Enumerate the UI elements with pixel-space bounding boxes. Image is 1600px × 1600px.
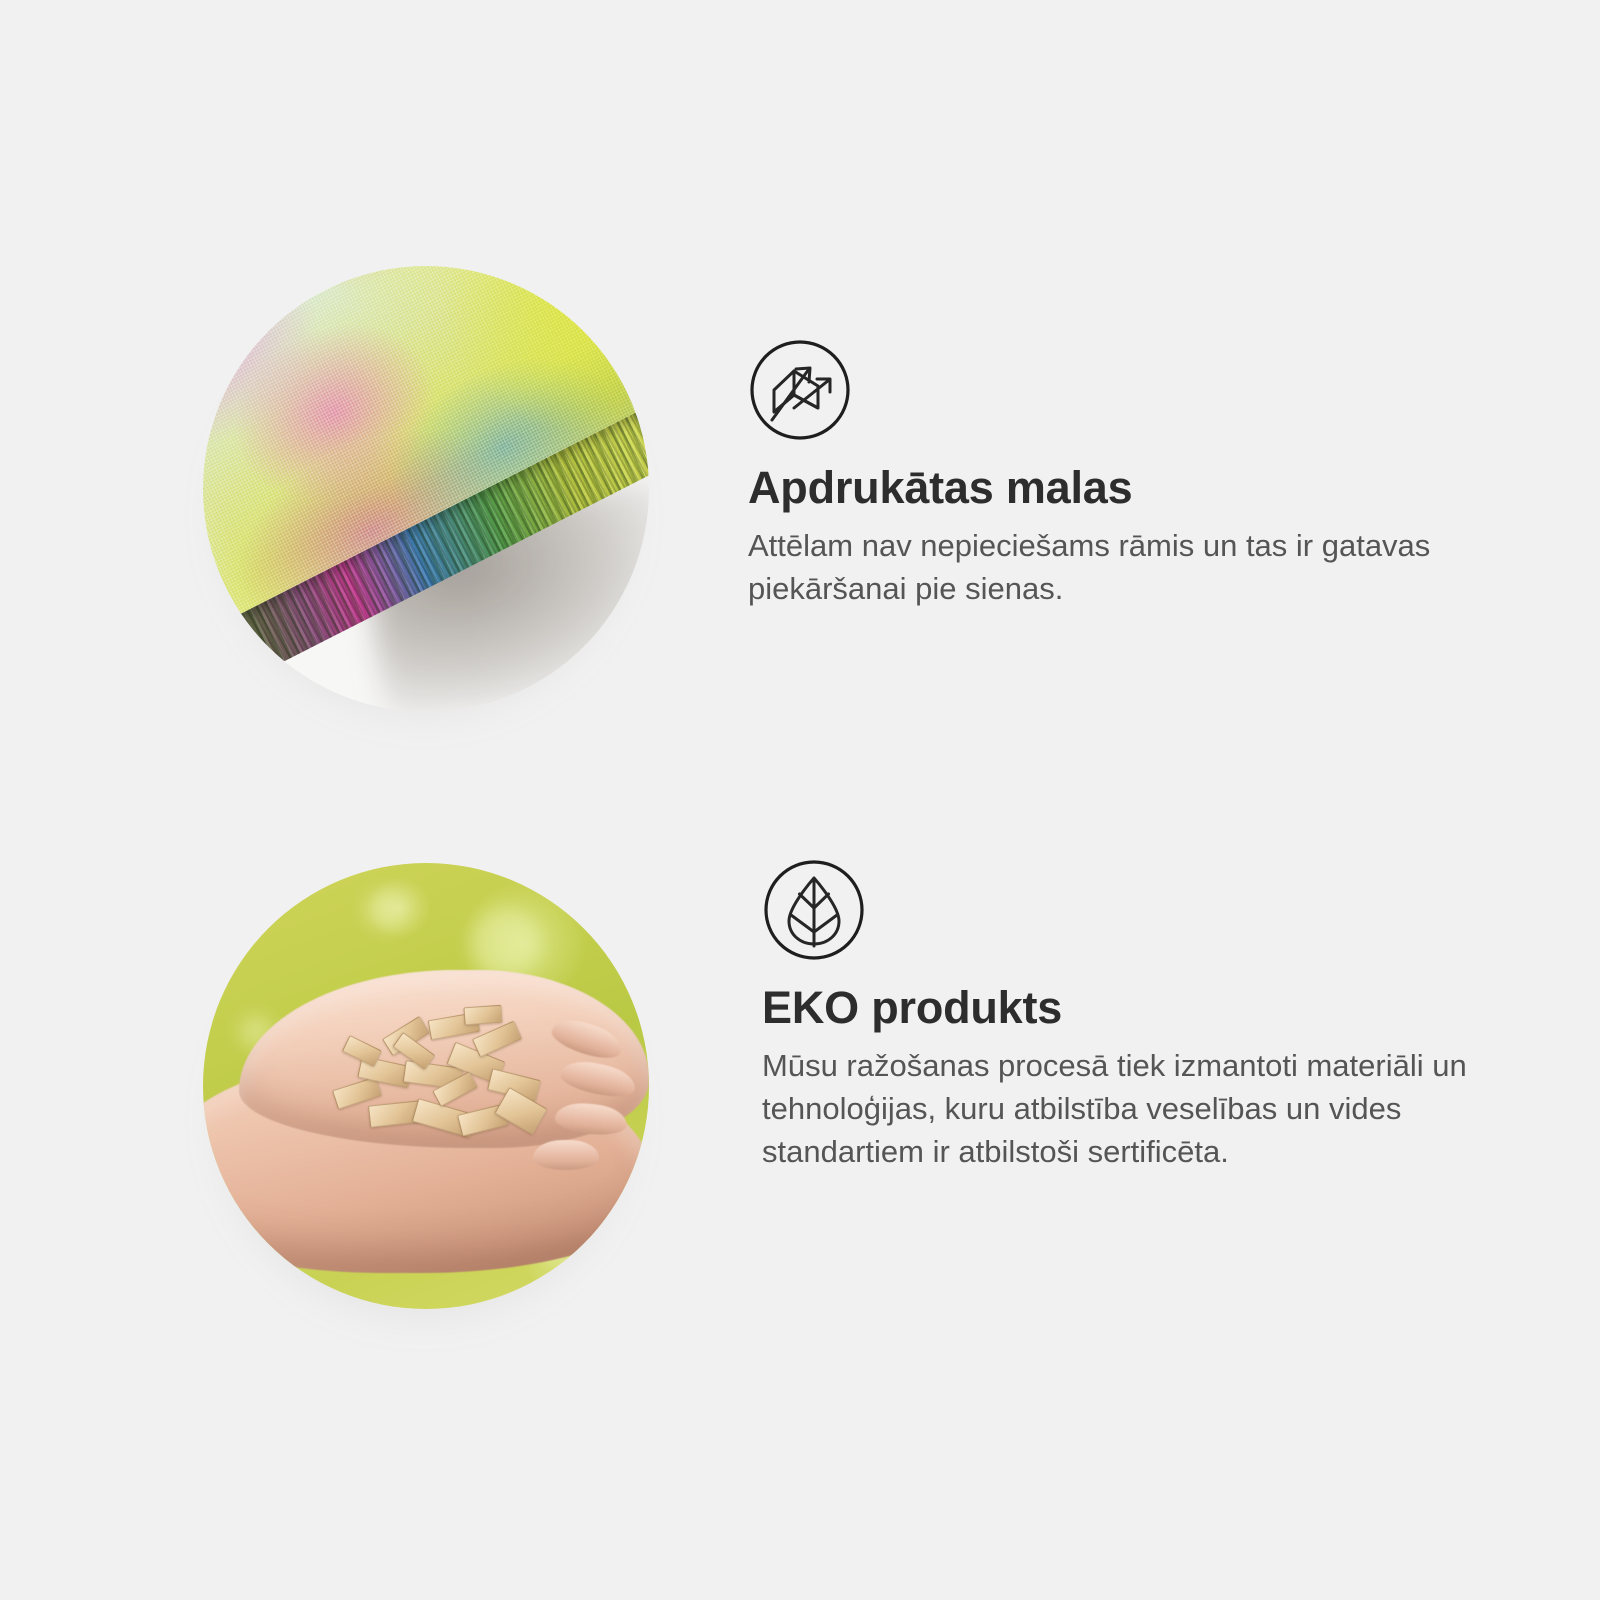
feature-text-printed-edges: Apdrukātas malas Attēlam nav nepieciešam… xyxy=(748,338,1508,611)
circular-photo-canvas-corner xyxy=(203,266,649,712)
feature-image-eko-product xyxy=(203,863,649,1309)
feature-description-eko-product: Mūsu ražošanas procesā tiek izmantoti ma… xyxy=(762,1045,1492,1173)
circular-photo-wood-chips xyxy=(203,863,649,1309)
feature-image-printed-edges xyxy=(203,266,649,712)
feature-description-printed-edges: Attēlam nav nepieciešams rāmis un tas ir… xyxy=(748,525,1478,611)
wood-chips-pile xyxy=(319,997,569,1158)
feature-list-page: Apdrukātas malas Attēlam nav nepieciešam… xyxy=(0,0,1600,1600)
canvas-print-scene xyxy=(203,266,649,712)
eco-photo-scene xyxy=(203,863,649,1309)
feature-title-printed-edges: Apdrukātas malas xyxy=(748,464,1508,511)
leaf-icon xyxy=(762,858,1502,962)
feature-text-eko-product: EKO produkts Mūsu ražošanas procesā tiek… xyxy=(762,858,1502,1174)
canvas-print-block xyxy=(203,266,649,668)
wrapped-canvas-edge-icon xyxy=(748,338,1508,442)
feature-title-eko-product: EKO produkts xyxy=(762,984,1502,1031)
